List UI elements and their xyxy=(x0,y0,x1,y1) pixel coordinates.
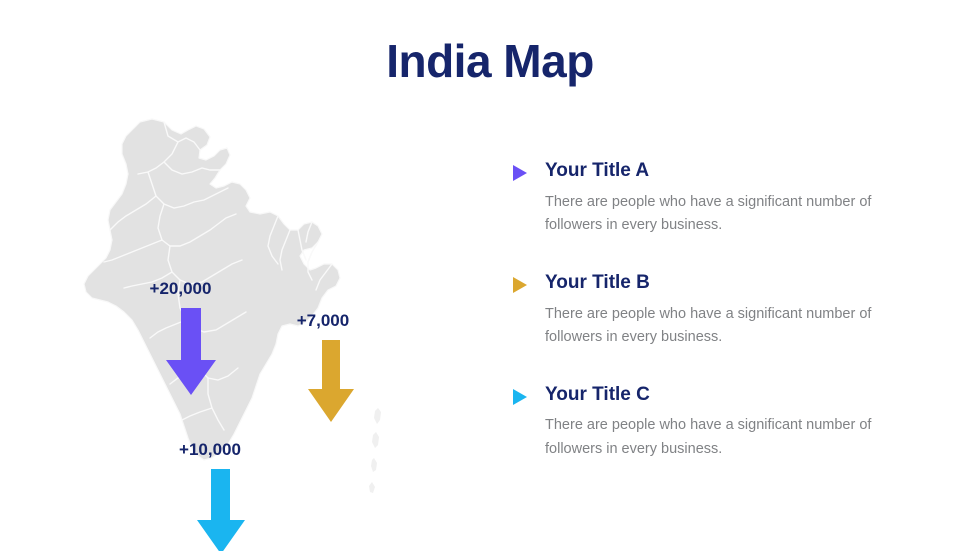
content-item-a-body: There are people who have a significant … xyxy=(545,191,917,238)
content-item-c[interactable]: Your Title C There are people who have a… xyxy=(512,384,932,462)
map-marker-c-label: +10,000 xyxy=(175,441,245,458)
india-map-panel: +20,000 +7,000 +10,000 xyxy=(60,112,440,512)
page-title: India Map xyxy=(0,36,980,87)
down-arrow-icon xyxy=(308,340,354,422)
triangle-right-icon xyxy=(512,388,528,406)
slide-canvas: India Map xyxy=(0,0,980,551)
india-map-graphic xyxy=(60,112,440,512)
map-marker-b[interactable]: +7,000 xyxy=(292,312,354,422)
content-item-b-title: Your Title B xyxy=(545,272,932,294)
content-item-b[interactable]: Your Title B There are people who have a… xyxy=(512,272,932,350)
content-item-c-title: Your Title C xyxy=(545,384,932,406)
map-marker-a-label: +20,000 xyxy=(145,280,216,297)
content-item-b-body: There are people who have a significant … xyxy=(545,303,917,350)
content-item-a-title: Your Title A xyxy=(545,160,932,182)
content-item-c-body: There are people who have a significant … xyxy=(545,414,917,461)
triangle-right-icon xyxy=(512,276,528,294)
map-marker-a[interactable]: +20,000 xyxy=(145,280,216,395)
content-item-a[interactable]: Your Title A There are people who have a… xyxy=(512,160,932,238)
down-arrow-icon xyxy=(166,308,216,395)
map-marker-c[interactable]: +10,000 xyxy=(175,441,245,551)
map-marker-b-label: +7,000 xyxy=(292,312,354,329)
triangle-right-icon xyxy=(512,164,528,182)
andaman-nicobar-islands xyxy=(369,408,381,493)
down-arrow-icon xyxy=(197,469,245,551)
content-list: Your Title A There are people who have a… xyxy=(512,160,932,461)
